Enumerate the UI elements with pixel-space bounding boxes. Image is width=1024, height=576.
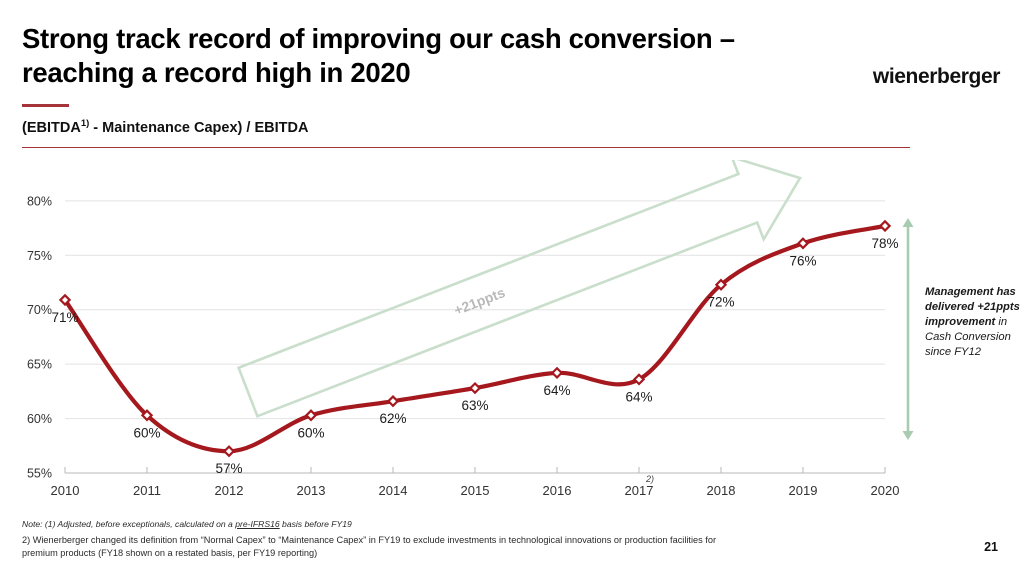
x-axis-tick-label: 2018	[707, 483, 736, 498]
data-point-label: 63%	[461, 398, 488, 413]
data-point-label: 71%	[51, 310, 78, 325]
data-point-marker	[880, 221, 889, 230]
footnotes-block: Note: (1) Adjusted, before exceptionals,…	[22, 518, 722, 560]
y-axis-tick-label: 55%	[27, 467, 52, 481]
footnote-1-post: basis before FY19	[280, 519, 352, 529]
range-arrow-group	[903, 218, 914, 440]
footnote-2: 2) Wienerberger changed its definition f…	[22, 534, 722, 560]
data-point-label: 57%	[215, 461, 242, 476]
x-axis-tick-label: 2020	[871, 483, 900, 498]
company-logo: wienerberger	[873, 65, 1000, 89]
data-point-label: 62%	[379, 411, 406, 426]
data-point-marker	[552, 368, 561, 377]
data-point-label: 72%	[707, 295, 734, 310]
data-point-label: 78%	[871, 236, 898, 251]
footnote-1: Note: (1) Adjusted, before exceptionals,…	[22, 518, 722, 531]
footnote-1-pre: Note: (1) Adjusted, before exceptionals,…	[22, 519, 235, 529]
range-arrow-head-top	[903, 218, 914, 227]
y-axis-tick-label: 60%	[27, 412, 52, 426]
data-point-label: 76%	[789, 253, 816, 268]
data-point-label: 60%	[133, 425, 160, 440]
subtitle-suffix: - Maintenance Capex) / EBITDA	[89, 120, 308, 136]
y-axis-tick-label: 70%	[27, 303, 52, 317]
series-line-path	[65, 226, 885, 451]
subtitle-prefix: (EBITDA	[22, 120, 81, 136]
x-axis-footnote-marker: 2)	[645, 474, 654, 484]
data-point-marker	[224, 447, 233, 456]
data-series-group	[65, 226, 885, 451]
data-point-label: 64%	[625, 389, 652, 404]
x-axis-tick-label: 2015	[461, 483, 490, 498]
data-point-marker	[470, 384, 479, 393]
x-axis-tick-label: 2012	[215, 483, 244, 498]
title-divider	[22, 104, 69, 107]
data-point-label: 60%	[297, 425, 324, 440]
range-arrow-head-bottom	[903, 431, 914, 440]
data-point-label: 64%	[543, 383, 570, 398]
x-axis-tick-label: 2019	[789, 483, 818, 498]
x-axis-group	[65, 467, 885, 473]
trend-arrow-label: +21ppts	[452, 284, 508, 318]
footnote-marker-group: 2)	[645, 474, 654, 484]
line-chart: 55%60%65%70%75%80% 201020112012201320142…	[0, 160, 1024, 505]
subtitle-superscript: 1)	[81, 118, 89, 129]
page-number: 21	[984, 540, 998, 554]
x-axis-tick-label: 2011	[133, 483, 161, 498]
x-axis-labels-group: 2010201120122013201420152016201720182019…	[51, 483, 900, 498]
y-axis-tick-label: 75%	[27, 249, 52, 263]
y-axis-labels-group: 55%60%65%70%75%80%	[27, 194, 52, 480]
footnote-1-underlined: pre-IFRS16	[235, 519, 279, 529]
y-axis-tick-label: 80%	[27, 194, 52, 208]
chart-canvas: 55%60%65%70%75%80% 201020112012201320142…	[0, 160, 1024, 505]
x-axis-tick-label: 2013	[297, 483, 326, 498]
chart-subtitle: (EBITDA1) - Maintenance Capex) / EBITDA	[22, 118, 308, 136]
x-axis-tick-label: 2017	[625, 483, 654, 498]
y-axis-tick-label: 65%	[27, 358, 52, 372]
x-axis-tick-label: 2010	[51, 483, 80, 498]
subtitle-divider	[22, 147, 910, 148]
x-axis-tick-label: 2016	[543, 483, 572, 498]
data-point-marker	[388, 397, 397, 406]
slide-root: Strong track record of improving our cas…	[0, 0, 1024, 576]
page-title: Strong track record of improving our cas…	[22, 22, 852, 89]
annotation-callout: Management has delivered +21ppts improve…	[925, 285, 1021, 359]
x-axis-tick-label: 2014	[379, 483, 408, 498]
